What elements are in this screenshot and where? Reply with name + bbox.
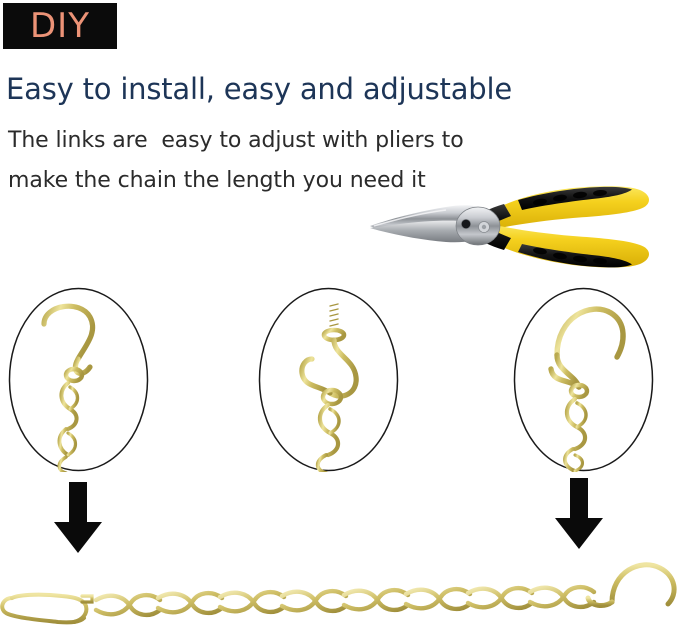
down-arrow-icon-right [553, 478, 605, 550]
detail-circle-s-hook [8, 287, 149, 472]
headline-text: Easy to install, easy and adjustable [6, 72, 512, 106]
large-s-hook-graphic [551, 309, 623, 471]
body-text-line-1: The links are easy to adjust with pliers… [8, 128, 464, 153]
chain-left-clasp [2, 595, 92, 623]
s-hook-graphic [44, 306, 93, 472]
pliers-image [368, 178, 668, 278]
infographic-page: DIY Easy to install, easy and adjustable… [0, 0, 679, 640]
pliers-jaw [370, 205, 500, 245]
chain-right-s-hook [588, 565, 674, 606]
diy-badge-label: DIY [30, 9, 90, 43]
body-text-line-2: make the chain the length you need it [8, 168, 426, 193]
bottom-chain-product [0, 552, 679, 640]
screw-hook-graphic [302, 301, 356, 472]
detail-circle-large-s-hook [513, 287, 654, 472]
diy-badge: DIY [3, 3, 117, 49]
down-arrow-icon-left [52, 482, 104, 554]
chain-links [96, 587, 594, 615]
detail-circle-screw-hook [258, 287, 399, 472]
detail-outline [260, 289, 398, 471]
